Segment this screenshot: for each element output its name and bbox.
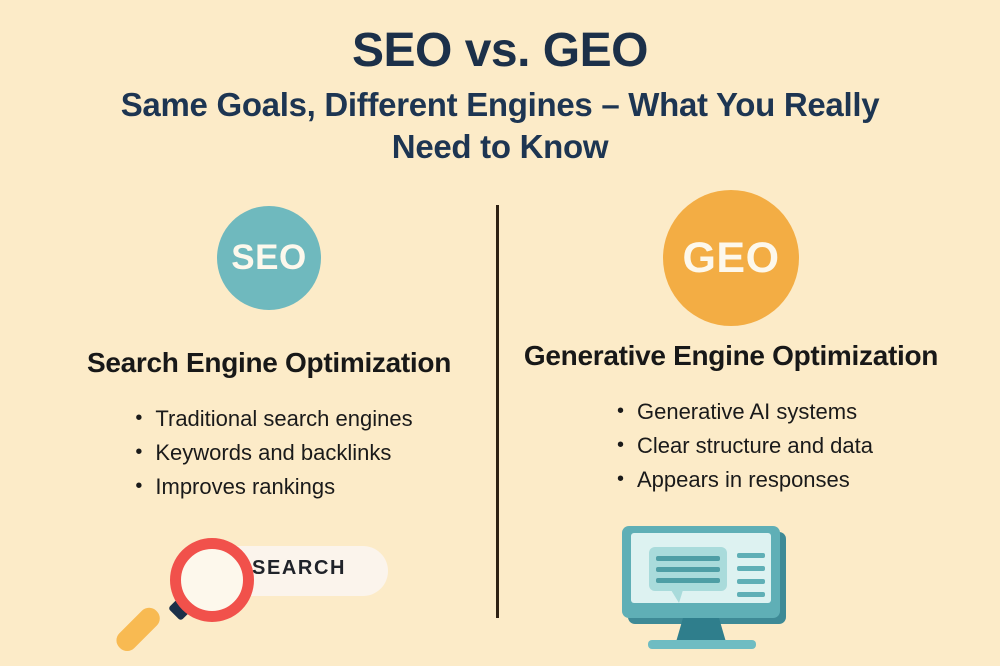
page-subtitle: Same Goals, Different Engines – What You…: [80, 78, 920, 168]
list-item: Improves rankings: [135, 470, 412, 504]
list-item: Traditional search engines: [135, 402, 412, 436]
bullet-list-seo: Traditional search engines Keywords and …: [135, 402, 412, 504]
monitor-screen: [631, 533, 771, 603]
side-text-line: [737, 592, 765, 597]
monitor-stand-neck: [676, 618, 726, 642]
bubble-text-line: [656, 556, 720, 561]
chat-bubble-tail-icon: [671, 590, 683, 603]
bubble-text-line: [656, 578, 720, 583]
search-illustration: SEARCH: [152, 538, 392, 648]
monitor-body: [622, 526, 780, 618]
monitor-illustration: [620, 526, 790, 658]
monitor-stand-base: [648, 640, 756, 649]
list-item: Appears in responses: [617, 463, 873, 497]
column-seo: SEO Search Engine Optimization Tradition…: [54, 196, 484, 504]
badge-seo: SEO: [217, 206, 321, 310]
side-text-line: [737, 553, 765, 558]
magnifier-handle-icon: [112, 604, 164, 656]
column-divider: [496, 205, 499, 618]
badge-geo-label: GEO: [682, 234, 779, 283]
bullet-list-geo: Generative AI systems Clear structure an…: [617, 395, 873, 497]
magnifier-lens-icon: [170, 538, 254, 622]
badge-geo: GEO: [663, 190, 799, 326]
list-item: Keywords and backlinks: [135, 436, 412, 470]
infographic-header: SEO vs. GEO Same Goals, Different Engine…: [0, 0, 1000, 168]
list-item: Generative AI systems: [617, 395, 873, 429]
list-item: Clear structure and data: [617, 429, 873, 463]
bubble-text-line: [656, 567, 720, 572]
side-text-line: [737, 566, 765, 571]
heading-seo: Search Engine Optimization: [54, 310, 484, 380]
side-text-line: [737, 579, 765, 584]
search-bar-label: SEARCH: [252, 557, 346, 580]
page-title: SEO vs. GEO: [0, 0, 1000, 78]
column-geo: GEO Generative Engine Optimization Gener…: [516, 196, 946, 497]
badge-seo-label: SEO: [231, 238, 306, 278]
heading-geo: Generative Engine Optimization: [516, 326, 946, 373]
